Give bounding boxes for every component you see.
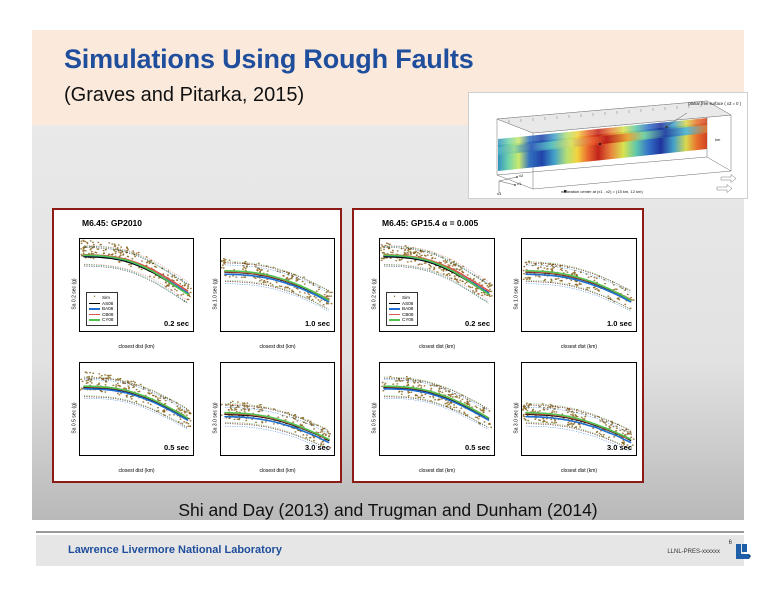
subplot-1-0-sec: Sa 1.0 sec (g)10.10.011101.0 secclosest … xyxy=(500,232,642,356)
rough-fault-3d-figure: planar free surface ( x3 = 0 ) nucleatio… xyxy=(468,92,748,199)
legend-item: CY08 xyxy=(389,317,414,323)
footer-divider xyxy=(36,531,744,533)
x-axis-label: closest dist (km) xyxy=(379,344,495,350)
llnl-logo xyxy=(734,543,752,560)
x-axis-label: closest dist (km) xyxy=(379,468,495,474)
legend-line-swatch xyxy=(389,314,400,316)
period-label: 0.5 sec xyxy=(164,443,189,452)
plot-canvas xyxy=(221,363,334,455)
page-title: Simulations Using Rough Faults xyxy=(64,44,474,75)
y-axis-label: Sa 0.2 sec (g) xyxy=(72,278,78,309)
period-label: 0.5 sec xyxy=(465,443,490,452)
period-label: 3.0 sec xyxy=(607,443,632,452)
axis-x1-label: x1 xyxy=(517,181,521,186)
x-axis-label: closest dist (km) xyxy=(521,344,637,350)
slide-canvas: Simulations Using Rough Faults (Graves a… xyxy=(0,0,776,600)
gmpe-sigma-band xyxy=(526,262,630,290)
plot-area: 10.10.011100.5 sec xyxy=(379,362,495,456)
gmpe-curve-as08 xyxy=(526,272,630,300)
subplot-0-2-sec: Sa 0.2 sec (g)10.10.011100.2 sec•SimAS08… xyxy=(58,232,199,356)
panel-title: M6.45: GP2010 xyxy=(82,218,142,228)
subplot-3-0-sec: Sa 3.0 sec (g)10.10.011103.0 secclosest … xyxy=(199,356,340,480)
subplot-grid: Sa 0.2 sec (g)10.10.011100.2 sec•SimAS08… xyxy=(58,232,340,480)
legend-line-swatch xyxy=(89,303,100,305)
x-axis-label: closest dist (km) xyxy=(79,344,194,350)
subplot-0-2-sec: Sa 0.2 sec (g)10.10.011100.2 sec•SimAS08… xyxy=(358,232,500,356)
subplot-0-5-sec: Sa 0.5 sec (g)10.10.011100.5 secclosest … xyxy=(58,356,199,480)
plot-canvas xyxy=(380,363,494,455)
legend-line-swatch xyxy=(389,308,400,310)
period-label: 1.0 sec xyxy=(305,319,330,328)
subplot-1-0-sec: Sa 1.0 sec (g)10.10.011101.0 secclosest … xyxy=(199,232,340,356)
legend-line-swatch xyxy=(89,314,100,316)
plot-area: 10.10.011103.0 sec xyxy=(220,362,335,456)
slide-caption-bar: Shi and Day (2013) and Trugman and Dunha… xyxy=(32,494,744,526)
plot-area: 10.10.011100.2 sec•SimAS08BA08CB08CY08 xyxy=(379,238,495,332)
x-axis-label: closest dist (km) xyxy=(79,468,194,474)
legend-label: CY08 xyxy=(402,317,414,323)
y-axis-label: Sa 0.2 sec (g) xyxy=(372,278,378,309)
page-subtitle: (Graves and Pitarka, 2015) xyxy=(64,84,304,107)
sim-scatter xyxy=(381,376,492,428)
plot-area: 10.10.011101.0 sec xyxy=(521,238,637,332)
gmpe-curve-ba08 xyxy=(84,256,188,293)
gmpe-sigma-band xyxy=(526,281,630,309)
plot-area: 10.10.011101.0 sec xyxy=(220,238,335,332)
axis-x2-label: x2 xyxy=(519,173,523,178)
plot-canvas xyxy=(522,363,636,455)
plot-area: 10.10.011100.2 sec•SimAS08BA08CB08CY08 xyxy=(79,238,194,332)
plot-canvas xyxy=(221,239,334,331)
sim-scatter xyxy=(380,242,493,297)
period-label: 3.0 sec xyxy=(305,443,330,452)
legend-line-swatch xyxy=(89,308,100,310)
gmpe-sigma-band xyxy=(384,397,488,428)
panel-title: M6.45: GP15.4 α = 0.005 xyxy=(382,218,478,228)
y-axis-label: Sa 0.5 sec (g) xyxy=(372,402,378,433)
nucleation-center-note: nucleation center at (x1 , x2) = (15 km,… xyxy=(561,189,643,194)
x-axis-label: closest dist (km) xyxy=(521,468,637,474)
panel-gp154: M6.45: GP15.4 α = 0.005 Sa 0.2 sec (g)10… xyxy=(352,208,644,483)
subplot-0-5-sec: Sa 0.5 sec (g)10.10.011100.5 secclosest … xyxy=(358,356,500,480)
plot-area: 10.10.011103.0 sec xyxy=(521,362,637,456)
legend-line-swatch xyxy=(389,303,400,305)
gmpe-curve-cb08 xyxy=(84,255,188,291)
slide-caption: Shi and Day (2013) and Trugman and Dunha… xyxy=(178,500,597,521)
plot-area: 10.10.011100.5 sec xyxy=(79,362,194,456)
y-axis-label: Sa 3.0 sec (g) xyxy=(213,402,219,433)
subplot-3-0-sec: Sa 3.0 sec (g)10.10.011103.0 secclosest … xyxy=(500,356,642,480)
axis-x3-label: x3 xyxy=(497,191,501,196)
footer-page-number: 6 xyxy=(729,540,732,546)
footer-release-code: LLNL-PRES-xxxxxx xyxy=(667,549,720,555)
gmpe-sigma-band xyxy=(526,262,630,291)
footer-organization: Lawrence Livermore National Laboratory xyxy=(68,544,282,556)
sim-scatter xyxy=(221,258,333,306)
y-axis-label: Sa 1.0 sec (g) xyxy=(213,278,219,309)
fault-3d-svg xyxy=(469,93,747,198)
gmpe-sigma-band xyxy=(526,284,630,312)
period-label: 0.2 sec xyxy=(164,319,189,328)
plot-canvas xyxy=(80,363,193,455)
period-label: 1.0 sec xyxy=(607,319,632,328)
legend-item: CY08 xyxy=(89,317,114,323)
legend-line-swatch xyxy=(89,319,100,321)
legend-dot-marker: • xyxy=(389,295,400,300)
y-axis-label: Sa 3.0 sec (g) xyxy=(514,402,520,433)
x-axis-label: closest dist (km) xyxy=(220,344,335,350)
gmpe-sigma-band xyxy=(225,284,329,312)
legend-dot-marker: • xyxy=(89,295,100,300)
plot-legend: •SimAS08BA08CB08CY08 xyxy=(386,292,418,326)
plot-legend: •SimAS08BA08CB08CY08 xyxy=(86,292,118,326)
legend-line-swatch xyxy=(389,319,400,321)
panel-gp2010: M6.45: GP2010 Sa 0.2 sec (g)10.10.011100… xyxy=(52,208,342,483)
fault-unit-label: km xyxy=(715,137,720,142)
planar-free-surface-label: planar free surface ( x3 = 0 ) xyxy=(688,101,741,106)
legend-label: CY08 xyxy=(102,317,114,323)
period-label: 0.2 sec xyxy=(465,319,490,328)
sim-scatter xyxy=(523,261,635,309)
subplot-grid: Sa 0.2 sec (g)10.10.011100.2 sec•SimAS08… xyxy=(358,232,642,480)
x-axis-label: closest dist (km) xyxy=(220,468,335,474)
plot-canvas xyxy=(522,239,636,331)
y-axis-label: Sa 1.0 sec (g) xyxy=(514,278,520,309)
y-axis-label: Sa 0.5 sec (g) xyxy=(72,402,78,433)
